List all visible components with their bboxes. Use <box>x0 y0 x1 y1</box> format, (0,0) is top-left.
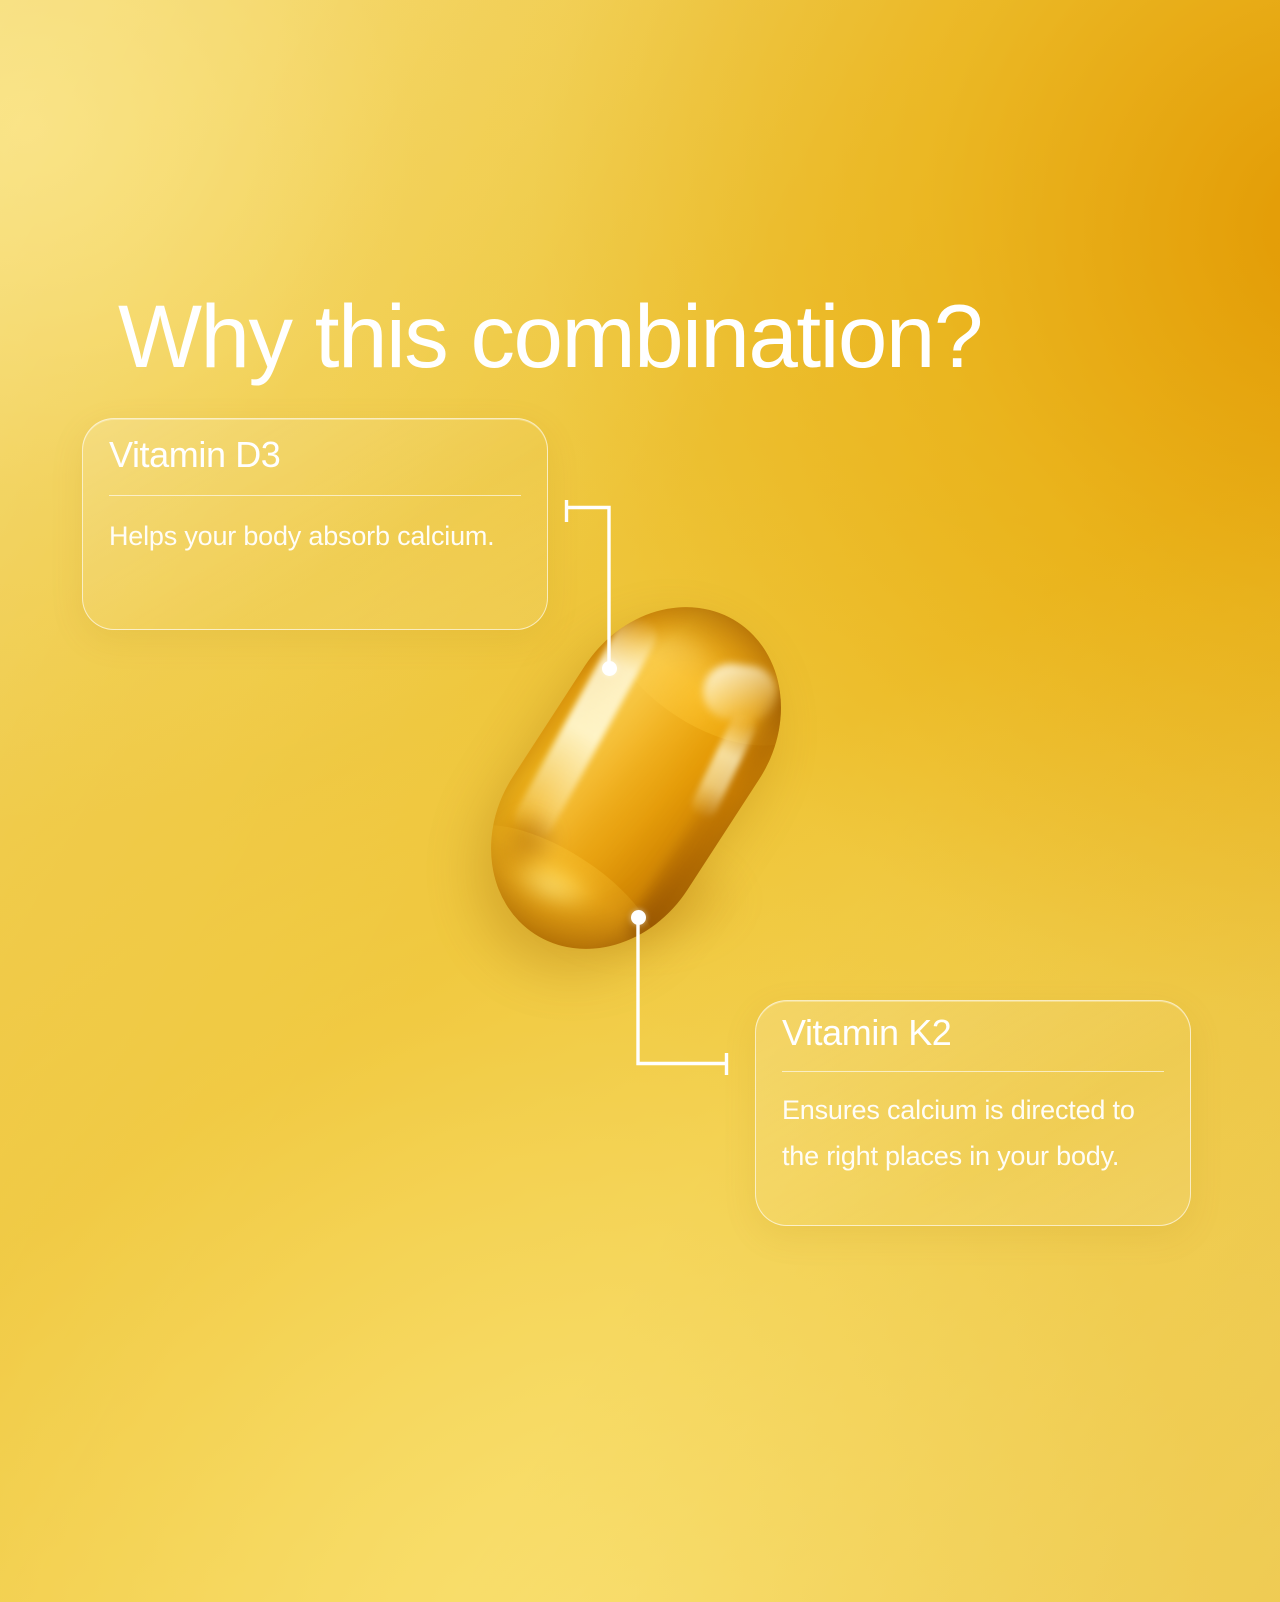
connector-k2-dot <box>631 910 646 925</box>
card-divider <box>782 1071 1164 1072</box>
capsule-broad-sheen <box>514 619 737 909</box>
capsule-right-highlight <box>688 710 760 822</box>
connector-d3-dot <box>602 661 617 676</box>
connector-d3-path <box>566 508 609 664</box>
card-title-vitamin-k2: Vitamin K2 <box>782 1011 951 1054</box>
capsule-rim-shade <box>621 681 808 948</box>
page-title: Why this combination? <box>118 292 982 381</box>
card-title-vitamin-d3: Vitamin D3 <box>109 433 280 476</box>
connector-lines <box>0 0 1280 1602</box>
info-card-vitamin-k2[interactable]: Vitamin K2 Ensures calcium is directed t… <box>755 1000 1191 1226</box>
capsule-drop-shadow <box>490 820 790 980</box>
info-card-vitamin-d3[interactable]: Vitamin D3 Helps your body absorb calciu… <box>82 418 548 630</box>
capsule-specular-streak <box>507 608 663 846</box>
card-divider <box>109 495 521 496</box>
background-sheen <box>0 0 1280 1602</box>
card-body-vitamin-k2: Ensures calcium is directed to the right… <box>782 1087 1172 1179</box>
connector-k2-path <box>638 921 728 1064</box>
promo-canvas: Why this combination? Vitamin D3 Helps y… <box>0 0 1280 1602</box>
capsule-bottom-shade <box>466 780 590 907</box>
capsule-top-highlight <box>700 661 780 726</box>
card-body-vitamin-d3: Helps your body absorb calcium. <box>109 513 529 559</box>
capsule-bottom-highlight <box>493 841 610 931</box>
